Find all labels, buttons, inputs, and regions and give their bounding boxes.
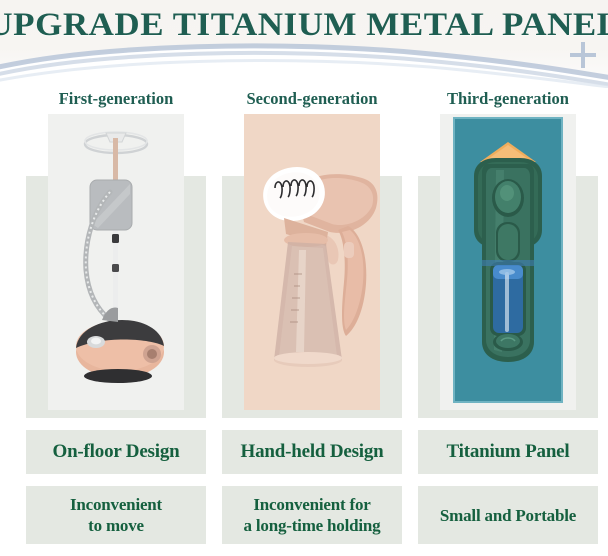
column-header-second-generation: Second-generation	[222, 88, 402, 114]
column-header-third-generation: Third-generation	[418, 88, 598, 114]
titanium-panel-steamer-photo	[440, 114, 576, 410]
handheld-steamer-photo	[244, 114, 380, 410]
column-first-generation: First-generation	[26, 88, 206, 114]
plus-icon	[570, 42, 596, 68]
standing-garment-steamer-photo	[48, 114, 184, 410]
caption-sub-line: to move	[70, 515, 162, 536]
comparison-columns: First-generation	[0, 88, 608, 556]
wave-decoration	[0, 40, 608, 88]
column-second-generation: Second-generation	[222, 88, 402, 114]
caption-sub-line: Small and Portable	[440, 505, 576, 526]
caption-main-second-generation: Hand-held Design	[222, 430, 402, 474]
photo-frame-third-generation	[440, 114, 576, 410]
caption-sub-first-generation: Inconvenient to move	[26, 486, 206, 544]
photo-frame-first-generation	[48, 114, 184, 410]
caption-sub-line: Inconvenient for	[244, 494, 381, 515]
caption-sub-line: Inconvenient	[70, 494, 162, 515]
caption-sub-third-generation: Small and Portable	[418, 486, 598, 544]
header-banner: UPGRADE TITANIUM METAL PANEL	[0, 0, 608, 88]
caption-sub-line: a long-time holding	[244, 515, 381, 536]
photo-frame-second-generation	[244, 114, 380, 410]
caption-sub-second-generation: Inconvenient for a long-time holding	[222, 486, 402, 544]
page-title: UPGRADE TITANIUM METAL PANEL	[0, 5, 608, 45]
caption-main-first-generation: On-floor Design	[26, 430, 206, 474]
column-header-first-generation: First-generation	[26, 88, 206, 114]
column-third-generation: Third-generation	[418, 88, 598, 114]
caption-main-third-generation: Titanium Panel	[418, 430, 598, 474]
